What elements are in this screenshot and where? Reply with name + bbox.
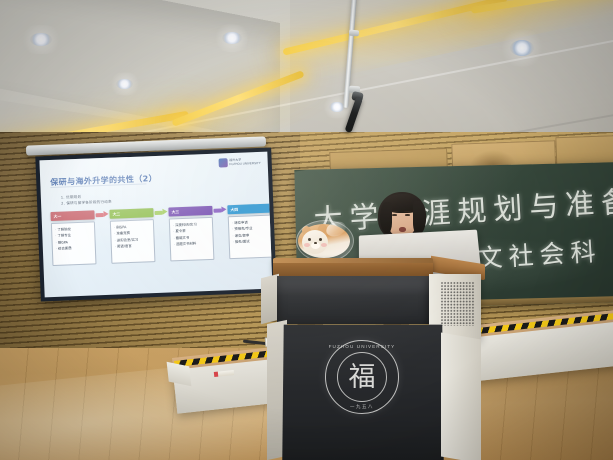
speaker-hair-side	[413, 201, 426, 234]
projection-screen: 福州大学 FUZHOU UNIVERSITY 保研与海外升学的共性（2） 1. …	[35, 148, 276, 302]
flow-stage: 大一 了解院校 了解专业 刷GPA 综合素质	[50, 210, 96, 266]
flow-stage-label: 大二	[109, 208, 153, 219]
emblem-chinese-text: 一九五八	[350, 404, 374, 410]
speaker-hair-side	[380, 202, 392, 233]
lecture-hall-photo: 大学学涯规划与准备 人文社会科 福州大学 FUZHOU UNIVERSITY 保…	[0, 0, 613, 460]
ceiling-downlight	[222, 32, 242, 44]
speaker-eye	[405, 214, 410, 216]
university-logo-icon	[218, 158, 227, 167]
speaker-mouth	[399, 227, 406, 232]
flow-stage-items: 了解院校 了解专业 刷GPA 综合素质	[51, 221, 97, 266]
flow-stage-items: 刷GPA 准备竞赛 进实验室/实习 英语/语言	[110, 219, 156, 264]
flow-stage-items: 深度科研/实习 夏令营 套磁文书 选题文书材料	[169, 217, 215, 262]
list-item: 英语/语言	[115, 242, 152, 250]
ceiling-downlight	[30, 33, 52, 46]
flow-stage-label: 大一	[50, 210, 94, 221]
slide-logo: 福州大学 FUZHOU UNIVERSITY	[218, 157, 261, 168]
emblem-english-text: FUZHOU UNIVERSITY	[329, 344, 396, 349]
flow-stage-label: 大三	[168, 206, 212, 217]
emblem-character: 福	[349, 364, 376, 391]
flow-stage: 大二 刷GPA 准备竞赛 进实验室/实习 英语/语言	[109, 208, 155, 264]
presentation-slide: 福州大学 FUZHOU UNIVERSITY 保研与海外升学的共性（2） 1. …	[39, 152, 272, 298]
speaker-eye	[392, 214, 397, 216]
flow-arrow-icon	[95, 211, 108, 218]
flow-stage-label: 大四	[227, 204, 271, 215]
slide-subtitle-2: 2. 保研与留学各阶段的行动表	[61, 200, 112, 207]
flow-arrow-icon	[154, 209, 167, 216]
speaker-grille-icon	[441, 282, 475, 326]
slide-flowchart: 大一 了解院校 了解专业 刷GPA 综合素质 大二 刷GPA	[50, 204, 264, 266]
lectern: FUZHOU UNIVERSITY 福 一九五八	[255, 236, 475, 460]
lectern-lower-right	[441, 332, 481, 460]
list-item: 选题文书材料	[174, 240, 211, 248]
lectern-wood-top-edge	[273, 258, 433, 263]
flow-stage: 大三 深度科研/实习 夏令营 套磁文书 选题文书材料	[168, 206, 214, 262]
slide-logo-line2: FUZHOU UNIVERSITY	[229, 161, 260, 166]
list-item: 综合素质	[56, 244, 93, 252]
microphone-pole-joint	[349, 30, 359, 37]
flow-arrow-icon	[213, 206, 226, 213]
lectern-front-sheen	[277, 276, 429, 296]
ceiling-downlight	[116, 79, 133, 89]
ceiling-downlight	[510, 40, 534, 56]
slide-subtitle-1: 1. 优期规划	[61, 195, 82, 201]
university-emblem: FUZHOU UNIVERSITY 福 一九五八	[325, 340, 399, 414]
emblem-inner-ring: 福	[337, 352, 387, 402]
